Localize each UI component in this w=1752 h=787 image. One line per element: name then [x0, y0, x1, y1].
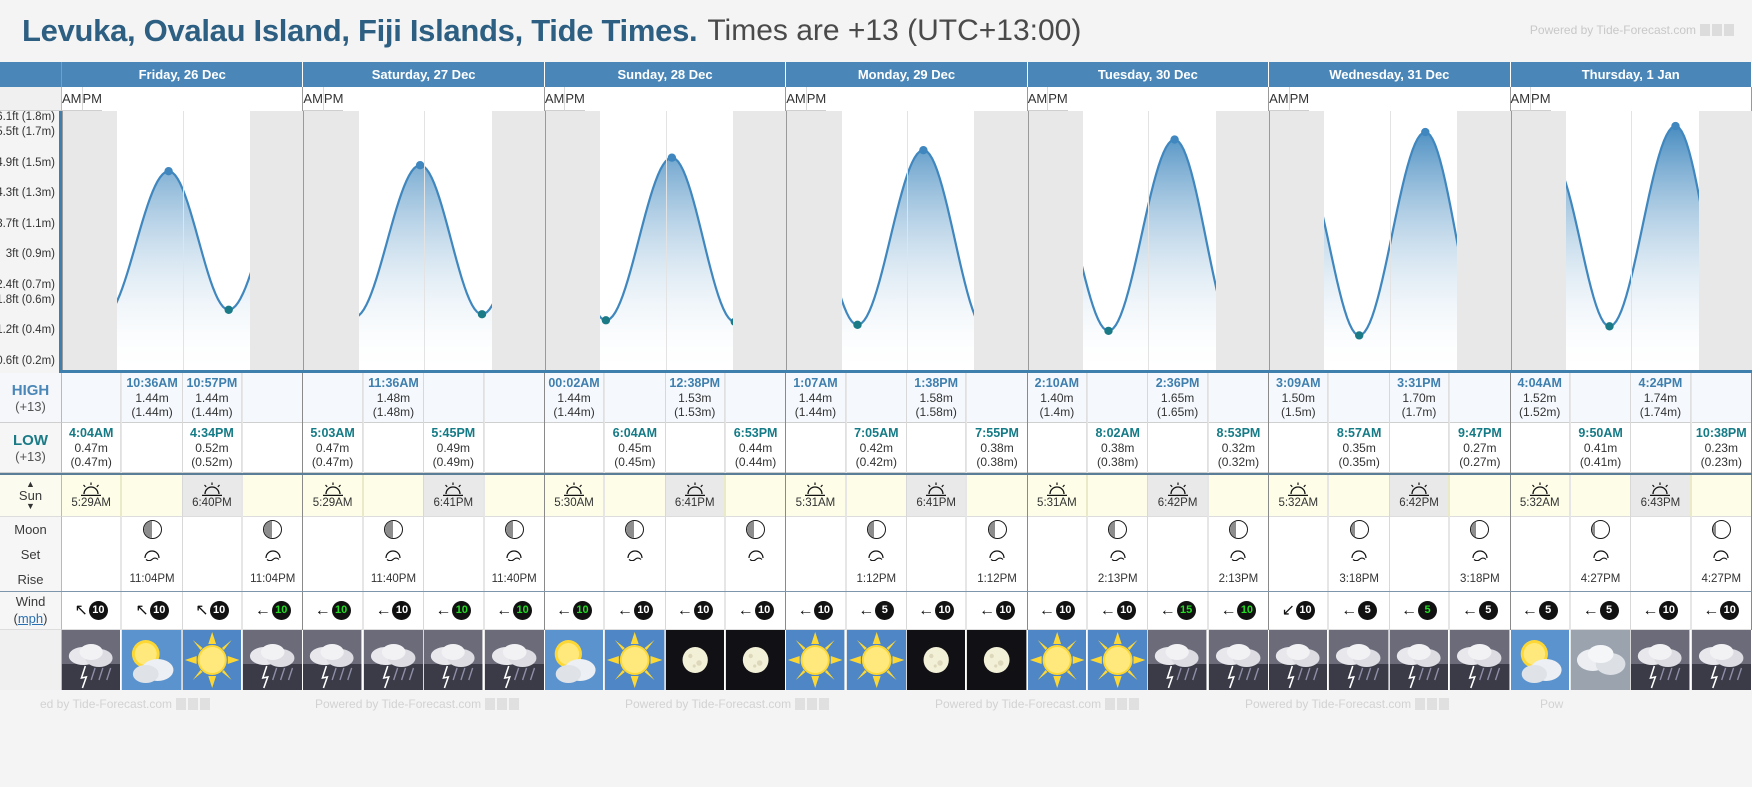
y-tick-0: 6.1ft (1.8m) [0, 111, 55, 123]
set-slot [485, 542, 544, 567]
rise-slot [62, 567, 122, 591]
weather-cell [726, 630, 785, 690]
day-column: 1:07AM1.44m(1.44m)1:38PM1.58m(1.58m) [786, 373, 1027, 423]
quarter-slots [303, 630, 423, 690]
set-cell [122, 542, 181, 567]
moon-cell [364, 517, 423, 542]
day-column: Sunday, 28 Dec [545, 62, 786, 87]
high-tide-height: 1.44m [799, 391, 832, 405]
moon-cell [666, 517, 725, 542]
sunny-icon [605, 630, 664, 690]
set-cell [907, 542, 966, 567]
quarter-slots: 3:18PM [1390, 567, 1510, 591]
rise-cell [605, 567, 664, 591]
high-tide-height: 1.53m [678, 391, 711, 405]
half [666, 567, 786, 591]
tide-slot [1390, 423, 1450, 473]
wind-speed-badge: 5 [1600, 601, 1619, 620]
day-column: 4:04AM0.47m(0.47m)4:34PM0.52m(0.52m) [62, 423, 303, 473]
header-credit: Powered by Tide-Forecast.com [1530, 23, 1734, 37]
wind-label-text: Wind [16, 594, 46, 610]
thunderstorm-icon [62, 630, 120, 690]
half-pm: 10:38PM0.23m(0.23m) [1631, 423, 1751, 473]
ampm-pm: PM [807, 87, 827, 111]
sunny-icon [786, 630, 844, 690]
set-slot [1390, 542, 1450, 567]
wind-speed-badge: 10 [1659, 601, 1678, 620]
rise-cell: 1:12PM [967, 567, 1026, 591]
sun-slot [1329, 475, 1388, 517]
quarter-slots: 10:36AM1.44m(1.44m) [62, 373, 182, 423]
quarter-slots: 6:53PM0.44m(0.44m) [666, 423, 786, 473]
moon-slot [183, 517, 243, 542]
wind-slot: ←5 [1450, 592, 1509, 630]
day-column: Wednesday, 31 Dec [1269, 62, 1510, 87]
quarter-slots [1148, 517, 1268, 542]
half: 1:12PM [786, 567, 907, 591]
sunrise-time: 5:31AM [1037, 497, 1077, 509]
day-column [786, 542, 1027, 567]
moonrise-time: 2:13PM [1098, 573, 1138, 585]
wind-slot: ←10 [907, 592, 967, 630]
day-column: 9:50AM0.41m(0.41m)10:38PM0.23m(0.23m) [1511, 423, 1752, 473]
half [1390, 517, 1510, 542]
wind-direction-icon: ← [738, 603, 754, 619]
moon-phase-icon [746, 520, 765, 539]
weather-cell [847, 630, 906, 690]
quarter-slots: 1:12PM [907, 567, 1027, 591]
wind-speed-badge: 10 [1296, 601, 1315, 620]
quarter-slots: ↖10←10 [183, 592, 303, 630]
day-column: Saturday, 27 Dec [303, 62, 544, 87]
wind-slot: ←10 [364, 592, 423, 630]
day-header-5: Wednesday, 31 Dec [1269, 62, 1509, 87]
high-tide-time: 3:09AM [1276, 376, 1320, 391]
low-tide-cell [1148, 423, 1207, 473]
quarter-slots: 12:38PM1.53m(1.53m) [666, 373, 786, 423]
wind-speed-badge: 10 [392, 601, 411, 620]
high-tide-time: 10:36AM [126, 376, 177, 391]
low-tide-height: 0.23m [1705, 441, 1738, 455]
halves [1269, 630, 1509, 690]
day-column [62, 630, 303, 690]
low-tide-height-alt: (0.27m) [1459, 455, 1500, 469]
wind-direction-icon: ← [1462, 603, 1478, 619]
low-tide-height: 0.38m [980, 441, 1013, 455]
sun-slot: 5:29AM [303, 475, 363, 517]
wind-speed-badge: 10 [210, 601, 229, 620]
wind-unit-link[interactable]: mph [18, 611, 43, 626]
half: 6:41PM [666, 475, 786, 517]
sunny-icon [1088, 630, 1147, 690]
thunderstorm-icon [243, 630, 302, 690]
quarter-slots [1148, 630, 1268, 690]
day-column [545, 567, 786, 591]
high-tide-height-alt: (1.44m) [553, 405, 594, 419]
day-column [545, 517, 786, 542]
day-column: 5:31AM6:41PM [786, 475, 1027, 517]
sun-slot: 6:43PM [1631, 475, 1691, 517]
day-header-row: Friday, 26 DecSaturday, 27 DecSunday, 28… [0, 62, 1752, 87]
ampm-halves: AMPM [62, 87, 302, 111]
half [1269, 517, 1390, 542]
y-tick-2: 4.9ft (1.5m) [0, 157, 55, 169]
day-column [1028, 542, 1269, 567]
sunset-time: 6:42PM [1399, 497, 1439, 509]
moon-phase-icon [1591, 520, 1610, 539]
half [1631, 630, 1751, 690]
low-tide-cell: 9:50AM0.41m(0.41m) [1571, 423, 1630, 473]
rise-cell [1390, 567, 1449, 591]
low-tide-time: 6:53PM [734, 426, 778, 441]
high-tide-cell: 2:10AM1.40m(1.4m) [1028, 373, 1087, 423]
moon-phase-icon [1470, 520, 1489, 539]
night-band [974, 111, 1083, 370]
half [1269, 630, 1390, 690]
moonset-icon [504, 548, 524, 561]
rise-cell: 3:18PM [1450, 567, 1509, 591]
rise-slot: 3:18PM [1329, 567, 1388, 591]
rise-cell [1511, 567, 1570, 591]
high-tide-label: HIGH (+13) [0, 373, 62, 423]
thunderstorm-icon [1450, 630, 1509, 690]
wind-direction-icon: ← [1401, 603, 1417, 619]
sun-cell: 6:41PM [424, 475, 483, 517]
half [1028, 542, 1149, 567]
quarter-slots: ←10←10 [666, 592, 786, 630]
half: 5:29AM [62, 475, 183, 517]
footer-credit-text: Pow [1540, 697, 1563, 711]
half: ←10←10 [545, 592, 666, 630]
weather-slot [605, 630, 664, 690]
low-tide-cell: 5:45PM0.49m(0.49m) [424, 423, 483, 473]
tide-slot: 4:24PM1.74m(1.74m) [1631, 373, 1691, 423]
wind-cell: ←5 [1571, 592, 1630, 630]
sun-slot [605, 475, 664, 517]
moon-shadow [1471, 521, 1476, 538]
tide-slot [726, 373, 785, 423]
high-tide-time: 4:04AM [1517, 376, 1561, 391]
moonrise-time: 3:18PM [1460, 573, 1500, 585]
halves: 2:10AM1.40m(1.4m)2:36PM1.65m(1.65m) [1028, 373, 1268, 423]
halves: 4:27PM4:27PM [1511, 567, 1751, 591]
wind-speed-badge: 5 [1539, 601, 1558, 620]
tide-slot: 4:04AM0.47m(0.47m) [62, 423, 122, 473]
thunderstorm-icon [1148, 630, 1206, 690]
half-day-divider [1148, 111, 1149, 370]
sun-cell [847, 475, 906, 517]
wind-cell: ↖10 [122, 592, 181, 630]
moon-cell [1692, 517, 1751, 542]
rise-cell [1148, 567, 1207, 591]
half: 3:18PM [1269, 567, 1390, 591]
day-header-4: Tuesday, 30 Dec [1028, 62, 1268, 87]
high-tide-height-alt: (1.74m) [1640, 405, 1681, 419]
rise-slot [183, 567, 243, 591]
moon-phase-icon [384, 520, 403, 539]
moonset-icon [625, 548, 645, 561]
high-tide-cell [62, 373, 121, 423]
wind-slot: ←10 [786, 592, 846, 630]
quarter-slots: ←5←5 [1511, 592, 1631, 630]
sunrise-time: 5:32AM [1278, 497, 1318, 509]
half [62, 542, 183, 567]
tide-chart-page: Levuka, Ovalau Island, Fiji Islands, Tid… [0, 0, 1752, 787]
sun-cell: 6:40PM [183, 475, 242, 517]
day-column [1511, 542, 1752, 567]
quarter-slots [1028, 542, 1148, 567]
weather-label [0, 630, 62, 690]
halves: 11:04PM11:04PM [62, 567, 302, 591]
half [786, 630, 907, 690]
high-tide-cell: 12:38PM1.53m(1.53m) [666, 373, 725, 423]
wind-speed-badge: 10 [332, 601, 351, 620]
set-cell [364, 542, 423, 567]
sunrise-time: 5:29AM [313, 497, 353, 509]
moonrise-time: 1:12PM [856, 573, 896, 585]
wind-cell: ←5 [1390, 592, 1449, 630]
weather-slot [847, 630, 906, 690]
high-tide-height: 1.44m [135, 391, 168, 405]
tide-slot: 8:02AM0.38m(0.38m) [1088, 423, 1147, 473]
moon-phase-icon [505, 520, 524, 539]
sunrise-sunset-icon [1287, 482, 1309, 497]
rise-cell [424, 567, 483, 591]
moon-cell [1209, 517, 1268, 542]
day-column: 5:03AM0.47m(0.47m)5:45PM0.49m(0.49m) [303, 423, 544, 473]
day-column: 8:02AM0.38m(0.38m)8:53PM0.32m(0.32m) [1028, 423, 1269, 473]
low-tide-height: 0.44m [739, 441, 772, 455]
low-tide-time: 5:45PM [431, 426, 475, 441]
half: ←10←10 [303, 592, 424, 630]
sun-slot [1571, 475, 1630, 517]
quarter-slots: 4:34PM0.52m(0.52m) [183, 423, 303, 473]
moon-shadow [989, 521, 996, 538]
halves: 8:02AM0.38m(0.38m)8:53PM0.32m(0.32m) [1028, 423, 1268, 473]
high-tide-cell [424, 373, 483, 423]
wind-slot: ↙10 [1269, 592, 1329, 630]
quarter-slots: 5:31AM [786, 475, 906, 517]
wind-speed-badge: 10 [996, 601, 1015, 620]
weather-slot [243, 630, 302, 690]
wind-speed-badge: 10 [1056, 601, 1075, 620]
sun-cell: 5:31AM [1028, 475, 1087, 517]
half-pm: 2:36PM1.65m(1.65m) [1148, 373, 1268, 423]
ampm-am: AM [1028, 87, 1049, 111]
day-column: AMPM [1511, 87, 1752, 111]
day-column [545, 630, 786, 690]
sunrise-sunset-icon [1408, 482, 1430, 497]
moon-slot [1450, 517, 1509, 542]
quarter-slots: 5:32AM [1269, 475, 1389, 517]
halves [1028, 630, 1268, 690]
night-band [1457, 111, 1566, 370]
weather-slot [1028, 630, 1088, 690]
high-tide-height: 1.44m [557, 391, 590, 405]
wind-cell: ←10 [967, 592, 1026, 630]
tide-slot: 12:38PM1.53m(1.53m) [666, 373, 726, 423]
day-column [62, 542, 303, 567]
half [1631, 542, 1751, 567]
high-tide-time: 11:36AM [368, 376, 419, 391]
weather-cell [1028, 630, 1087, 690]
weather-slot [726, 630, 785, 690]
wind-slot: ←10 [1692, 592, 1751, 630]
moon-cell [424, 517, 483, 542]
weather-slot [62, 630, 122, 690]
moon-cell [605, 517, 664, 542]
quarter-slots: 1:12PM [786, 567, 906, 591]
set-cell [1692, 542, 1751, 567]
quarter-slots: 2:10AM1.40m(1.4m) [1028, 373, 1148, 423]
wind-slot: ←10 [666, 592, 726, 630]
rise-cell: 2:13PM [1088, 567, 1147, 591]
rise-cell [183, 567, 242, 591]
moon-slot [545, 517, 605, 542]
moonset-icon [263, 548, 283, 561]
low-tide-row: LOW (+13) 4:04AM0.47m(0.47m)4:34PM0.52m(… [0, 423, 1752, 475]
sun-slot [726, 475, 785, 517]
high-tide-height-alt: (1.4m) [1040, 405, 1075, 419]
sun-slot: 6:40PM [183, 475, 243, 517]
thunderstorm-icon [1631, 630, 1689, 690]
wind-direction-icon: ↖ [74, 603, 87, 619]
footer-credit-0: ed by Tide-Forecast.com [40, 697, 210, 711]
rise-cell: 11:40PM [364, 567, 423, 591]
high-tide-height-alt: (1.53m) [674, 405, 715, 419]
moon-slot [726, 517, 785, 542]
low-tide-height: 0.27m [1463, 441, 1496, 455]
half-am: 10:36AM1.44m(1.44m) [62, 373, 183, 423]
rise-cell [1631, 567, 1690, 591]
quarter-slots [1631, 517, 1751, 542]
high-tide-height-alt: (1.44m) [191, 405, 232, 419]
tide-slot [122, 423, 181, 473]
day-header-6: Thursday, 1 Jan [1511, 62, 1751, 87]
tide-chart-row: 6.1ft (1.8m)5.5ft (1.7m)4.9ft (1.5m)4.3f… [0, 111, 1752, 373]
sunny-icon [183, 630, 241, 690]
tide-slot: 9:47PM0.27m(0.27m) [1450, 423, 1509, 473]
high-tide-height-alt: (1.44m) [795, 405, 836, 419]
halves: 6:04AM0.45m(0.45m)6:53PM0.44m(0.44m) [545, 423, 785, 473]
moon-cell [1028, 517, 1087, 542]
sunrise-time: 5:30AM [554, 497, 594, 509]
wind-speed-badge: 10 [150, 601, 169, 620]
sun-cell [485, 475, 544, 517]
low-tide-cell [485, 423, 544, 473]
set-slot [666, 542, 726, 567]
set-slot [1148, 542, 1208, 567]
low-tide-cell [666, 423, 725, 473]
wind-slot: ←5 [847, 592, 906, 630]
low-tide-height: 0.47m [75, 441, 108, 455]
low-tide-time: 10:38PM [1696, 426, 1747, 441]
moon-slot [967, 517, 1026, 542]
rise-cell: 11:04PM [122, 567, 181, 591]
wind-slot: ←5 [1511, 592, 1571, 630]
chart-y-axis: 6.1ft (1.8m)5.5ft (1.7m)4.9ft (1.5m)4.3f… [0, 111, 62, 373]
tide-slot [364, 423, 423, 473]
sunrise-sunset-icon [684, 482, 706, 497]
moon-slot [907, 517, 967, 542]
set-cell [605, 542, 664, 567]
day-column: 11:40PM11:40PM [303, 567, 544, 591]
quarter-slots: 4:04AM0.47m(0.47m) [62, 423, 182, 473]
moon-cell [1511, 517, 1570, 542]
quarter-slots: 6:41PM [907, 475, 1027, 517]
quarter-slots: 2:36PM1.65m(1.65m) [1148, 373, 1268, 423]
day-column: ↙10←5←5←5 [1269, 592, 1510, 630]
half: 6:42PM [1390, 475, 1510, 517]
low-tide-time: 6:04AM [613, 426, 657, 441]
half: ←10←10 [666, 592, 786, 630]
wind-slot: ←5 [1390, 592, 1450, 630]
moonset-row: Set [0, 542, 1752, 567]
quarter-slots [1390, 517, 1510, 542]
wind-cell: ←10 [1209, 592, 1268, 630]
set-slot [243, 542, 302, 567]
ampm-pm: PM [1048, 87, 1068, 111]
quarter-slots [545, 517, 665, 542]
half-am: 4:04AM1.52m(1.52m) [1511, 373, 1632, 423]
day-column: 4:04AM1.52m(1.52m)4:24PM1.74m(1.74m) [1511, 373, 1752, 423]
half: ↖10↖10 [62, 592, 183, 630]
high-tide-cell: 1:38PM1.58m(1.58m) [907, 373, 966, 423]
low-tide-cell [907, 423, 966, 473]
sunset-time: 6:40PM [192, 497, 232, 509]
half [1148, 630, 1268, 690]
moonset-icon [987, 548, 1007, 561]
tide-slot [1692, 373, 1751, 423]
day-column [303, 517, 544, 542]
rise-slot [424, 567, 484, 591]
quarter-slots [1511, 542, 1631, 567]
half: 4:27PM [1511, 567, 1632, 591]
wind-speed-badge: 10 [935, 601, 954, 620]
quarter-slots: ↙10←5 [1269, 592, 1389, 630]
halves [1511, 630, 1751, 690]
weather-cells [62, 630, 1752, 690]
wind-direction-icon: ← [617, 603, 633, 619]
tide-slot: 4:04AM1.52m(1.52m) [1511, 373, 1571, 423]
day-column: 4:27PM4:27PM [1511, 567, 1752, 591]
day-column: AMPM [786, 87, 1027, 111]
half [183, 542, 303, 567]
high-tide-cell: 00:02AM1.44m(1.44m) [545, 373, 604, 423]
rise-slot: 11:40PM [364, 567, 423, 591]
night-band [250, 111, 359, 370]
high-tide-cell [847, 373, 906, 423]
moonrise-time: 3:18PM [1339, 573, 1379, 585]
rise-slot: 4:27PM [1692, 567, 1751, 591]
day-column [545, 542, 786, 567]
moonrise-time: 11:40PM [371, 573, 416, 585]
night-band [733, 111, 842, 370]
weather-cell [666, 630, 725, 690]
day-column: 5:30AM6:41PM [545, 475, 786, 517]
flag-icons [176, 698, 210, 710]
day-header-0: Friday, 26 Dec [62, 62, 302, 87]
wind-speed-badge: 15 [1177, 601, 1196, 620]
night-clear-icon [967, 630, 1026, 690]
quarter-slots [786, 542, 906, 567]
wind-cell: ←10 [243, 592, 302, 630]
moonrise-cells: 11:04PM11:04PM11:40PM11:40PM1:12PM1:12PM… [62, 567, 1752, 591]
wind-speed-badge: 10 [573, 601, 592, 620]
wind-direction-icon: ← [255, 603, 271, 619]
weather-slot [1148, 630, 1208, 690]
half [1148, 542, 1268, 567]
